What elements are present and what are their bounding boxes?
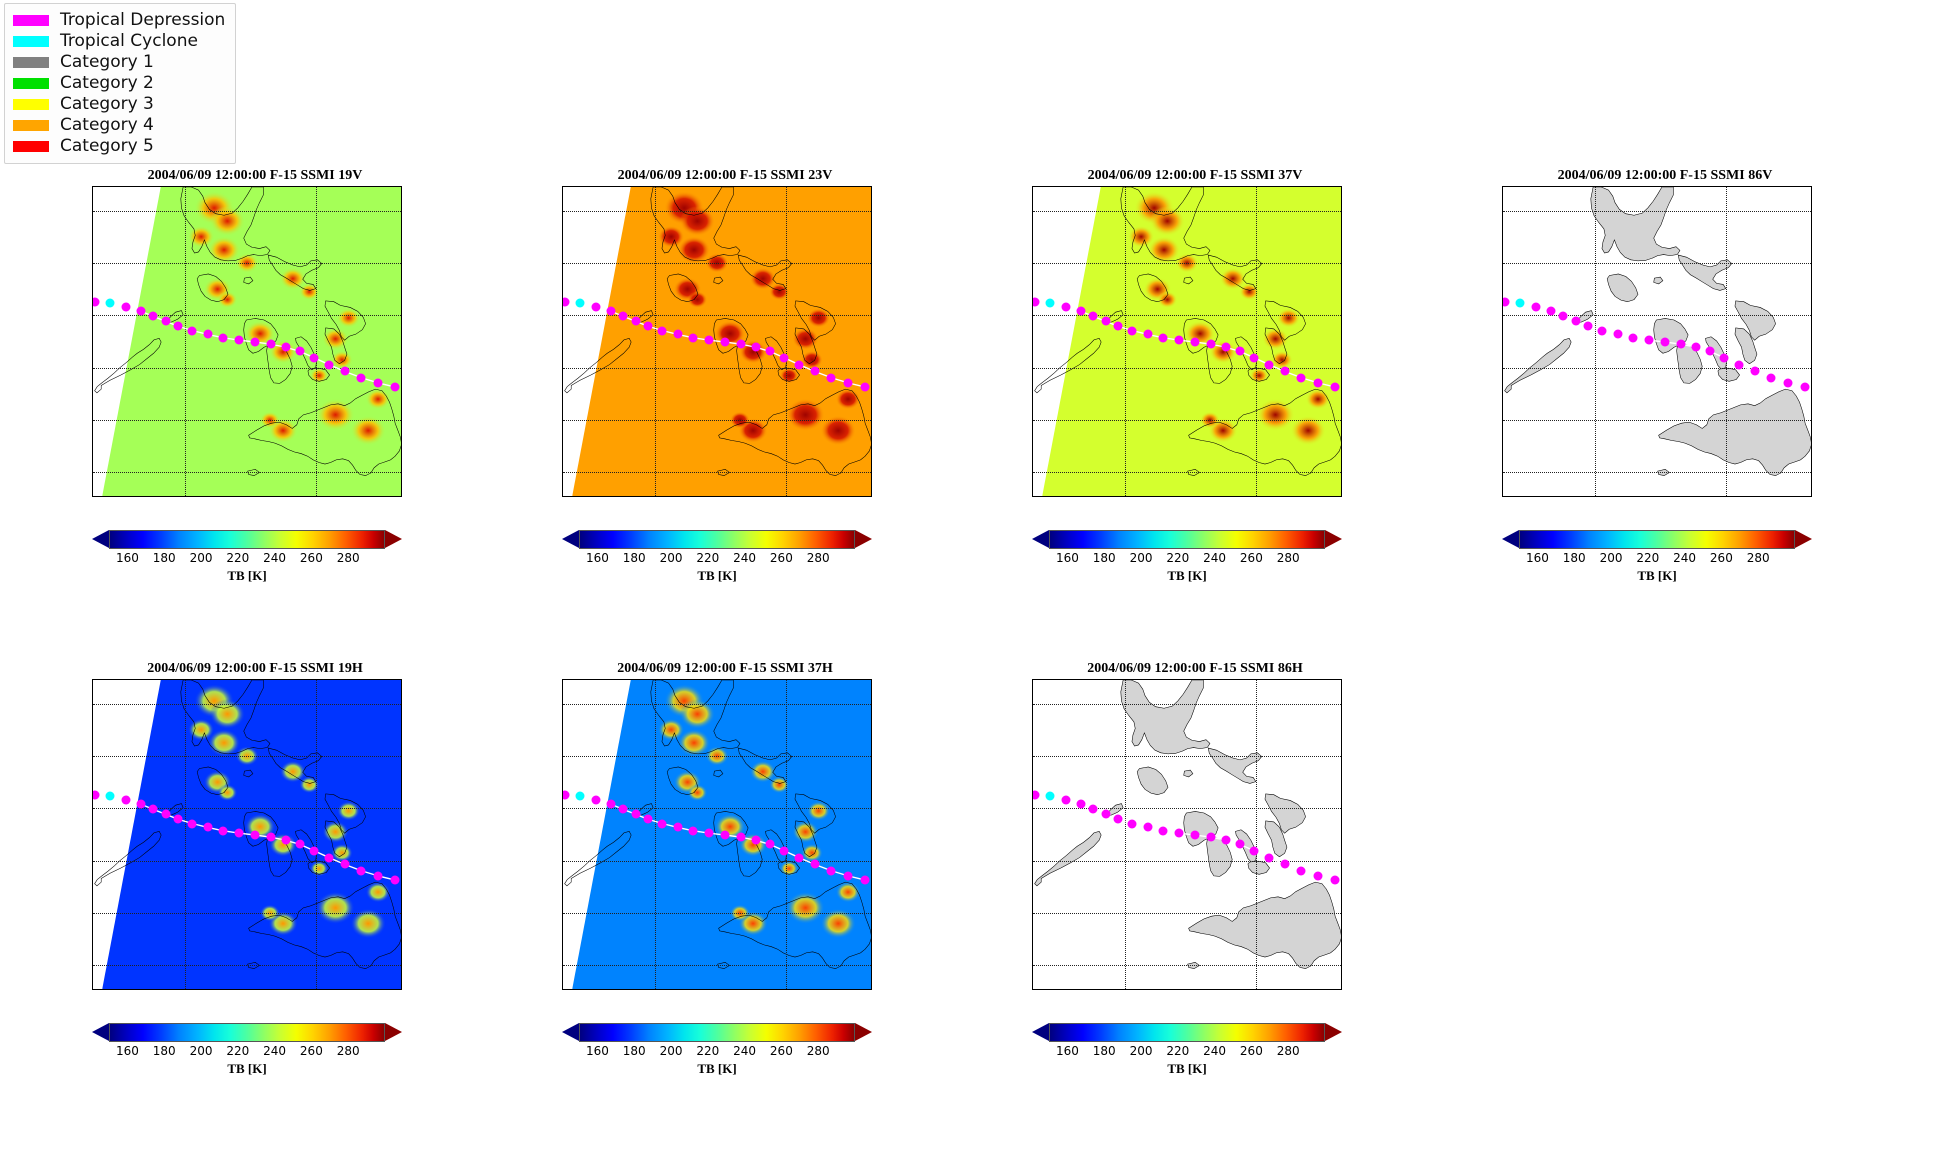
storm-track-line — [93, 680, 401, 989]
colorbar-tick-label: 280 — [807, 551, 830, 565]
colorbar-tick-label: 160 — [586, 551, 609, 565]
legend-item-tropical-cyclone: Tropical Cyclone — [13, 31, 225, 52]
legend-item-label: Category 5 — [60, 138, 154, 155]
legend-swatch-icon — [13, 141, 49, 152]
legend-item-label: Category 1 — [60, 54, 154, 71]
panel-title: 2004/06/09 12:00:00 F-15 SSMI 23V — [500, 168, 950, 184]
panel-title: 2004/06/09 12:00:00 F-15 SSMI 86V — [1440, 168, 1890, 184]
colorbar-tick-label: 260 — [300, 551, 323, 565]
colorbar-tick-label: 200 — [1130, 551, 1153, 565]
colorbar-axis-label: TB [K] — [1032, 1061, 1342, 1077]
panel-ssmi-86v: 2004/06/09 12:00:00 F-15 SSMI 86V6°N8°N1… — [1440, 168, 1890, 588]
colorbar-tick-label: 260 — [300, 1044, 323, 1058]
storm-track-line — [1033, 680, 1341, 989]
colorbar-axis-label: TB [K] — [1502, 568, 1812, 584]
colorbar-tick-label: 220 — [226, 551, 249, 565]
colorbar-over-arrow-icon — [1795, 530, 1812, 548]
colorbar-under-arrow-icon — [562, 530, 579, 548]
colorbar-tick-label: 240 — [733, 551, 756, 565]
colorbar-tick-label: 160 — [1526, 551, 1549, 565]
colorbar-over-arrow-icon — [385, 530, 402, 548]
colorbar-axis-label: TB [K] — [92, 568, 402, 584]
panel-title: 2004/06/09 12:00:00 F-15 SSMI 37H — [500, 661, 950, 677]
panel-ssmi-23v: 2004/06/09 12:00:00 F-15 SSMI 23V6°N8°N1… — [500, 168, 950, 588]
legend-item-label: Category 3 — [60, 96, 154, 113]
colorbar-over-arrow-icon — [855, 1023, 872, 1041]
colorbar: 160180200220240260280TB [K] — [1032, 530, 1342, 549]
colorbar-tick-label: 160 — [586, 1044, 609, 1058]
colorbar-over-arrow-icon — [855, 530, 872, 548]
colorbar-tick-label: 160 — [116, 1044, 139, 1058]
colorbar-tick-label: 240 — [1203, 551, 1226, 565]
legend-swatch-icon — [13, 15, 49, 26]
colorbar-axis-label: TB [K] — [562, 568, 872, 584]
colorbar-tick-label: 240 — [733, 1044, 756, 1058]
colorbar: 160180200220240260280TB [K] — [562, 1023, 872, 1042]
colorbar-tick-label: 240 — [1673, 551, 1696, 565]
colorbar-axis-label: TB [K] — [92, 1061, 402, 1077]
panel-title: 2004/06/09 12:00:00 F-15 SSMI 86H — [970, 661, 1420, 677]
colorbar: 160180200220240260280TB [K] — [562, 530, 872, 549]
colorbar-under-arrow-icon — [92, 530, 109, 548]
colorbar-tick-label: 220 — [1636, 551, 1659, 565]
legend-swatch-icon — [13, 36, 49, 47]
colorbar-tick-label: 240 — [263, 1044, 286, 1058]
colorbar-tick-label: 180 — [1563, 551, 1586, 565]
map-axes[interactable]: 6°N8°N10°N12°N14°N16°N120°E124°E — [1032, 186, 1342, 497]
colorbar-gradient — [579, 530, 855, 549]
colorbar-tick-label: 280 — [807, 1044, 830, 1058]
legend-item-label: Category 2 — [60, 75, 154, 92]
colorbar-tick-label: 200 — [660, 551, 683, 565]
map-axes[interactable]: 6°N8°N10°N12°N14°N16°N120°E124°E — [1502, 186, 1812, 497]
colorbar-tick-label: 240 — [1203, 1044, 1226, 1058]
legend-item-category-2: Category 2 — [13, 73, 225, 94]
legend-item-label: Tropical Depression — [60, 12, 225, 29]
colorbar-over-arrow-icon — [385, 1023, 402, 1041]
colorbar-tick-label: 180 — [623, 551, 646, 565]
colorbar-over-arrow-icon — [1325, 1023, 1342, 1041]
colorbar-gradient — [109, 1023, 385, 1042]
legend-swatch-icon — [13, 99, 49, 110]
legend-swatch-icon — [13, 57, 49, 68]
colorbar-tick-label: 160 — [1056, 1044, 1079, 1058]
colorbar-tick-label: 220 — [226, 1044, 249, 1058]
panel-ssmi-19v: 2004/06/09 12:00:00 F-15 SSMI 19V6°N8°N1… — [30, 168, 480, 588]
panel-ssmi-19h: 2004/06/09 12:00:00 F-15 SSMI 19H6°N8°N1… — [30, 661, 480, 1081]
colorbar-tick-label: 220 — [1166, 551, 1189, 565]
colorbar-tick-label: 260 — [770, 551, 793, 565]
map-axes[interactable]: 6°N8°N10°N12°N14°N16°N120°E124°E — [562, 186, 872, 497]
colorbar-tick-label: 280 — [1277, 1044, 1300, 1058]
colorbar-gradient — [1519, 530, 1795, 549]
colorbar-tick-label: 280 — [1747, 551, 1770, 565]
legend-item-category-4: Category 4 — [13, 115, 225, 136]
panel-ssmi-37h: 2004/06/09 12:00:00 F-15 SSMI 37H6°N8°N1… — [500, 661, 950, 1081]
colorbar-tick-label: 240 — [263, 551, 286, 565]
colorbar-tick-label: 200 — [190, 551, 213, 565]
legend-item-label: Tropical Cyclone — [60, 33, 198, 50]
legend-item-tropical-depression: Tropical Depression — [13, 10, 225, 31]
colorbar-under-arrow-icon — [1032, 1023, 1049, 1041]
colorbar-axis-label: TB [K] — [562, 1061, 872, 1077]
panel-ssmi-86h: 2004/06/09 12:00:00 F-15 SSMI 86H6°N8°N1… — [970, 661, 1420, 1081]
colorbar-tick-label: 180 — [153, 1044, 176, 1058]
legend-swatch-icon — [13, 120, 49, 131]
colorbar-gradient — [579, 1023, 855, 1042]
legend-item-category-3: Category 3 — [13, 94, 225, 115]
colorbar-tick-label: 220 — [696, 551, 719, 565]
legend-item-category-1: Category 1 — [13, 52, 225, 73]
storm-track-line — [93, 187, 401, 496]
colorbar-over-arrow-icon — [1325, 530, 1342, 548]
colorbar-gradient — [1049, 1023, 1325, 1042]
map-axes[interactable]: 6°N8°N10°N12°N14°N16°N120°E124°E — [92, 186, 402, 497]
colorbar-tick-label: 200 — [190, 1044, 213, 1058]
colorbar-axis-label: TB [K] — [1032, 568, 1342, 584]
colorbar-tick-label: 180 — [1093, 1044, 1116, 1058]
colorbar-under-arrow-icon — [562, 1023, 579, 1041]
panel-title: 2004/06/09 12:00:00 F-15 SSMI 19V — [30, 168, 480, 184]
storm-category-legend: Tropical DepressionTropical CycloneCateg… — [4, 3, 236, 164]
colorbar-tick-label: 220 — [1166, 1044, 1189, 1058]
colorbar: 160180200220240260280TB [K] — [92, 1023, 402, 1042]
colorbar-tick-label: 180 — [153, 551, 176, 565]
storm-track-line — [1503, 187, 1811, 496]
colorbar: 160180200220240260280TB [K] — [1032, 1023, 1342, 1042]
map-axes[interactable]: 6°N8°N10°N12°N14°N16°N120°E124°E — [562, 679, 872, 990]
colorbar-tick-label: 260 — [1240, 551, 1263, 565]
colorbar-tick-label: 160 — [1056, 551, 1079, 565]
colorbar-tick-label: 160 — [116, 551, 139, 565]
colorbar-tick-label: 180 — [623, 1044, 646, 1058]
colorbar-tick-label: 200 — [1600, 551, 1623, 565]
legend-item-label: Category 4 — [60, 117, 154, 134]
colorbar-tick-label: 260 — [770, 1044, 793, 1058]
colorbar-tick-label: 260 — [1240, 1044, 1263, 1058]
map-axes[interactable]: 6°N8°N10°N12°N14°N16°N120°E124°E — [1032, 679, 1342, 990]
colorbar-under-arrow-icon — [1032, 530, 1049, 548]
colorbar: 160180200220240260280TB [K] — [1502, 530, 1812, 549]
colorbar-tick-label: 260 — [1710, 551, 1733, 565]
colorbar-tick-label: 200 — [660, 1044, 683, 1058]
map-axes[interactable]: 6°N8°N10°N12°N14°N16°N120°E124°E — [92, 679, 402, 990]
panel-title: 2004/06/09 12:00:00 F-15 SSMI 19H — [30, 661, 480, 677]
colorbar: 160180200220240260280TB [K] — [92, 530, 402, 549]
colorbar-gradient — [109, 530, 385, 549]
colorbar-tick-label: 280 — [337, 551, 360, 565]
colorbar-gradient — [1049, 530, 1325, 549]
colorbar-tick-label: 220 — [696, 1044, 719, 1058]
colorbar-under-arrow-icon — [1502, 530, 1519, 548]
panel-ssmi-37v: 2004/06/09 12:00:00 F-15 SSMI 37V6°N8°N1… — [970, 168, 1420, 588]
colorbar-tick-label: 280 — [1277, 551, 1300, 565]
storm-track-line — [563, 187, 871, 496]
colorbar-under-arrow-icon — [92, 1023, 109, 1041]
colorbar-tick-label: 200 — [1130, 1044, 1153, 1058]
legend-swatch-icon — [13, 78, 49, 89]
legend-item-category-5: Category 5 — [13, 136, 225, 157]
storm-track-line — [1033, 187, 1341, 496]
panel-title: 2004/06/09 12:00:00 F-15 SSMI 37V — [970, 168, 1420, 184]
colorbar-tick-label: 180 — [1093, 551, 1116, 565]
colorbar-tick-label: 280 — [337, 1044, 360, 1058]
storm-track-line — [563, 680, 871, 989]
